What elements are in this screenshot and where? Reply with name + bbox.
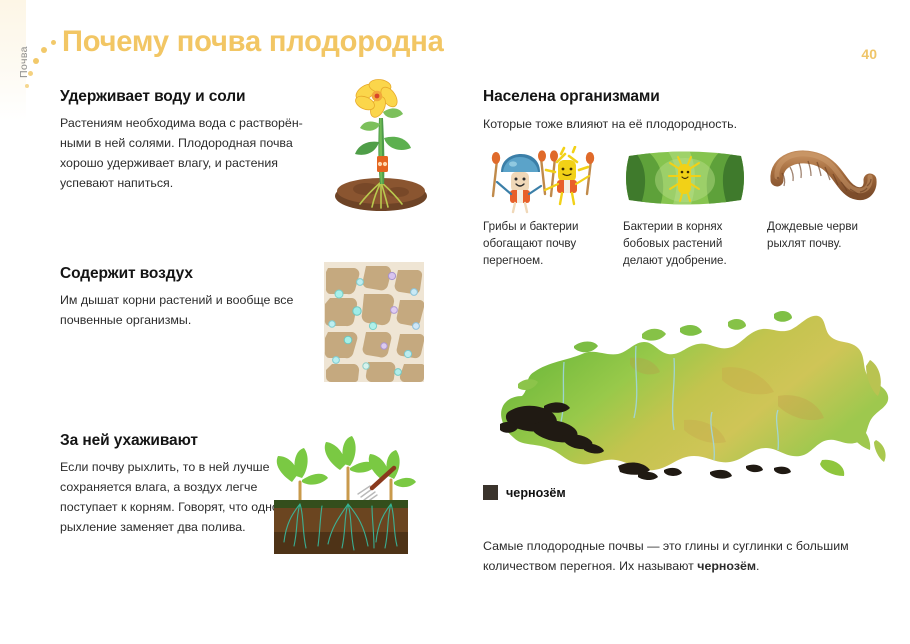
section-heading: Содержит воздух	[60, 265, 328, 283]
section-soil-organisms: Населена организмами Которые тоже влияют…	[483, 88, 883, 134]
section-heading: Удерживает воду и соли	[60, 88, 328, 106]
section-intro: Которые тоже влияют на её плодородность.	[483, 114, 883, 134]
earthworm-icon	[767, 146, 895, 214]
map-legend: чернозём	[483, 485, 566, 500]
organism-caption: Бактерии в корнях бобовых растений делаю…	[623, 218, 755, 269]
map-note-text: Самые плодородные почвы — это глины и су…	[483, 539, 849, 573]
section-water-retention: Удерживает воду и соли Растениям необход…	[60, 88, 328, 193]
map-note-emphasis: чернозём	[697, 559, 756, 573]
section-body: Если почву рыхлить, то в ней лучше сохра…	[60, 457, 280, 537]
bacteria-on-leaves-icon	[623, 146, 751, 214]
legend-swatch-chernozem	[483, 485, 498, 500]
soil-map-of-russia	[478, 300, 898, 500]
map-note-end: .	[756, 559, 759, 573]
organism-list: Грибы и бактерии обогащают почву перегно…	[483, 146, 887, 276]
soil-particles-illustration	[324, 262, 424, 382]
section-heading: Населена организмами	[483, 88, 883, 106]
section-tab-label: Почва	[18, 46, 30, 78]
page-number: 40	[861, 46, 877, 62]
organism-item: Грибы и бактерии обогащают почву перегно…	[483, 146, 611, 214]
section-body: Растениям необходима вода с растворён-ны…	[60, 113, 328, 193]
legend-label: чернозём	[506, 486, 566, 500]
section-contains-air: Содержит воздух Им дышат корни растений …	[60, 265, 328, 330]
organism-caption: Грибы и бактерии обогащают почву перегно…	[483, 218, 615, 269]
page-title: Почему почва плодородна	[62, 25, 444, 59]
section-body: Им дышат корни растений и вообще все поч…	[60, 290, 328, 330]
garden-bed-illustration	[262, 424, 420, 560]
section-soil-care: За ней ухаживают Если почву рыхлить, то …	[60, 432, 280, 537]
section-heading: За ней ухаживают	[60, 432, 280, 450]
mushroom-and-bacteria-icon	[483, 146, 611, 214]
map-note: Самые плодородные почвы — это глины и су…	[483, 536, 883, 576]
organism-item: Бактерии в корнях бобовых растений делаю…	[623, 146, 751, 214]
organism-item: Дождевые черви рыхлят почву.	[767, 146, 895, 214]
textbook-page: Почва Почему почва плодородна 40 Удержив…	[0, 0, 910, 644]
organism-caption: Дождевые черви рыхлят почву.	[767, 218, 899, 252]
flower-with-roots-illustration	[322, 78, 440, 213]
